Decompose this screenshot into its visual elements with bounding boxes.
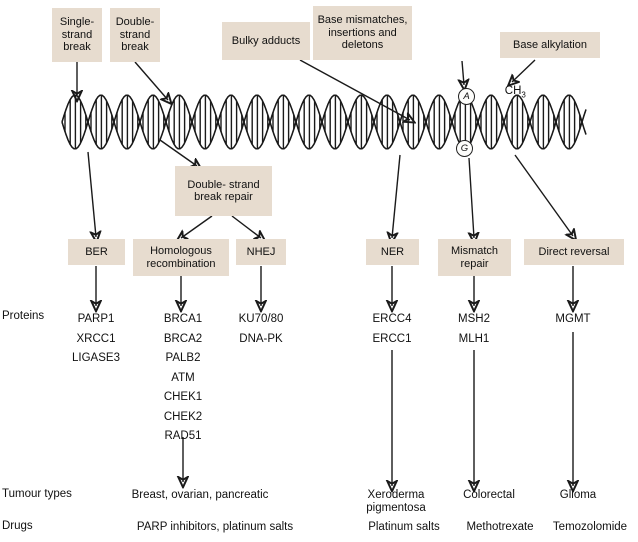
- drug-mismatch-repair: Methotrexate: [466, 521, 533, 534]
- pathway-box-ner[interactable]: NER: [366, 239, 419, 265]
- arrow-dsbrepair-to-hr: [181, 216, 212, 238]
- row-label-tumour-types: Tumour types: [2, 488, 72, 500]
- connector-arrows: [0, 0, 638, 542]
- damage-box-base-alkylation[interactable]: Base alkylation: [500, 32, 600, 58]
- arrow-helix-to-direct-reversal: [515, 155, 573, 236]
- pathway-box-nhej[interactable]: NHEJ: [236, 239, 286, 265]
- base-circle-a: A: [458, 88, 475, 105]
- arrow-helix-to-mmr: [469, 158, 474, 238]
- arrow-mismatch-to-helix: [462, 61, 464, 85]
- base-circle-g: G: [456, 140, 473, 157]
- protein-list-direct-reversal: MGMT: [555, 310, 590, 330]
- protein-list-nhej: KU70/80 DNA-PK: [239, 310, 284, 349]
- dna-repair-diagram: Single- strand break Double- strand brea…: [0, 0, 638, 542]
- arrow-helix-to-dsb-repair: [160, 140, 197, 166]
- protein-list-ner: ERCC4 ERCC1: [373, 310, 412, 349]
- drug-direct-reversal: Temozolomide: [553, 521, 627, 534]
- row-label-drugs: Drugs: [2, 520, 33, 532]
- protein-list-homologous-recombination: BRCA1 BRCA2 PALB2 ATM CHEK1 CHEK2 RAD51: [164, 310, 202, 447]
- drug-ner: Platinum salts: [368, 521, 440, 534]
- methyl-prefix: CH: [505, 85, 522, 97]
- damage-box-base-mismatches[interactable]: Base mismatches, insertions and deletons: [313, 6, 412, 60]
- methyl-group-label: CH3: [492, 72, 526, 114]
- pathway-box-direct-reversal[interactable]: Direct reversal: [524, 239, 624, 265]
- drug-homologous-recombination: PARP inhibitors, platinum salts: [137, 521, 293, 534]
- arrow-dsb-to-helix: [135, 62, 168, 100]
- methyl-subscript: 3: [521, 90, 525, 99]
- damage-box-double-strand-break[interactable]: Double- strand break: [110, 8, 160, 62]
- arrow-helix-to-ner: [392, 155, 400, 238]
- row-label-proteins: Proteins: [2, 310, 44, 322]
- arrow-bulky-to-helix: [300, 60, 410, 120]
- protein-list-ber: PARP1 XRCC1 LIGASE3: [72, 310, 120, 369]
- pathway-box-mismatch-repair[interactable]: Mismatch repair: [438, 239, 511, 276]
- pathway-box-dsb-repair[interactable]: Double- strand break repair: [175, 166, 272, 216]
- tumour-type-mismatch-repair: Colorectal: [463, 489, 515, 502]
- tumour-type-homologous-recombination: Breast, ovarian, pancreatic: [132, 489, 269, 502]
- damage-box-single-strand-break[interactable]: Single- strand break: [52, 8, 102, 62]
- arrow-dsbrepair-to-nhej: [232, 216, 261, 238]
- protein-list-mismatch-repair: MSH2 MLH1: [458, 310, 490, 349]
- pathway-box-homologous-recombination[interactable]: Homologous recombination: [133, 239, 229, 276]
- tumour-type-direct-reversal: Glioma: [560, 489, 596, 502]
- damage-box-bulky-adducts[interactable]: Bulky adducts: [222, 22, 310, 60]
- arrow-helix-to-ber: [88, 152, 96, 237]
- pathway-box-ber[interactable]: BER: [68, 239, 125, 265]
- tumour-type-ner: Xeroderma pigmentosa: [366, 489, 425, 515]
